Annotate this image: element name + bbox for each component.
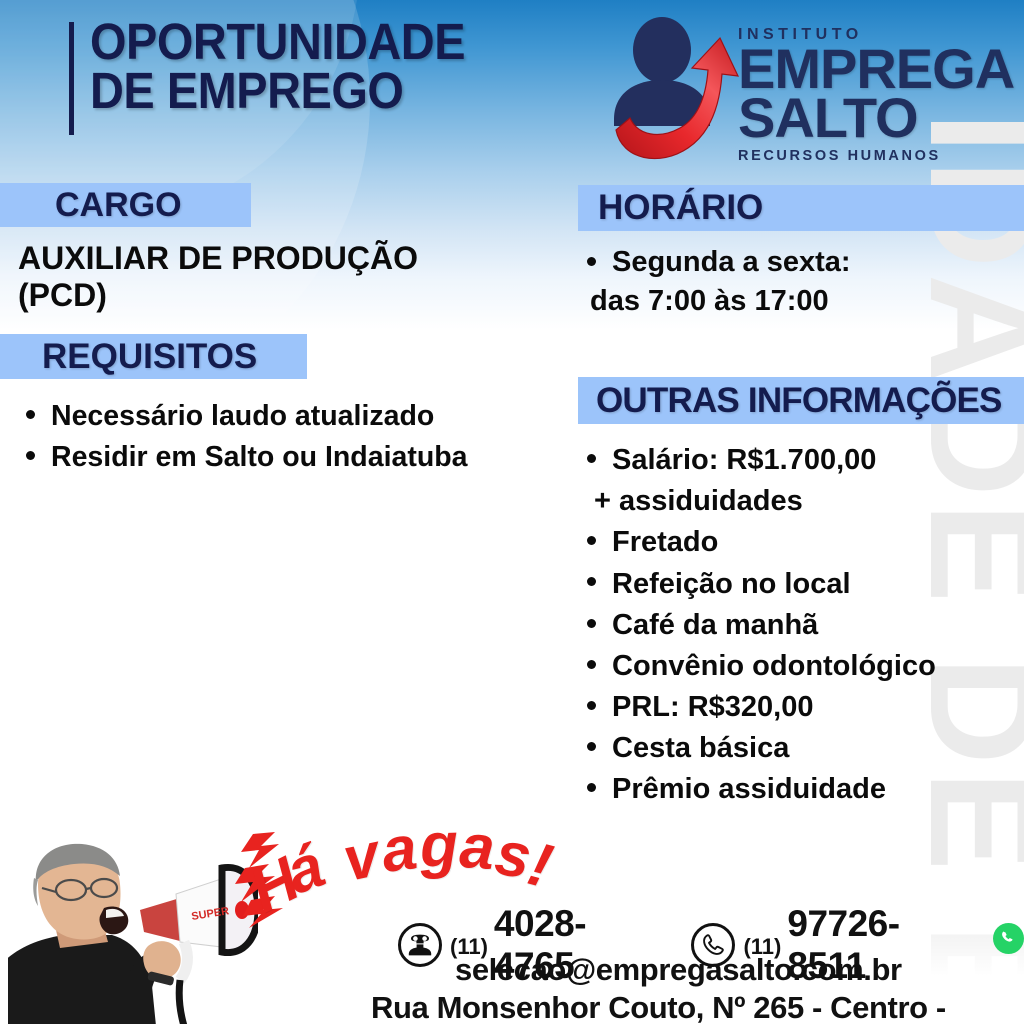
list-item: Fretado [572, 522, 1022, 563]
list-item: PRL: R$320,00 [572, 687, 1022, 728]
requisito-text: Residir em Salto ou Indaiatuba [51, 441, 468, 473]
list-item: Segunda a sexta: das 7:00 às 17:00 [572, 243, 1002, 320]
section-label-horario: HORÁRIO [578, 185, 1024, 231]
section-label-cargo: CARGO [0, 183, 251, 227]
ha-vagas-letter: v [337, 819, 385, 896]
list-item: Café da manhã [572, 605, 1022, 646]
section-label-outras-informacoes: OUTRAS INFORMAÇÕES [578, 377, 1024, 424]
list-item: Convênio odontológico [572, 646, 1022, 687]
contact-address: Rua Monsenhor Couto, Nº 265 - Centro - S… [371, 990, 1024, 1024]
section-label-outras-informacoes-text: OUTRAS INFORMAÇÕES [596, 381, 1002, 421]
list-item: Necessário laudo atualizado [11, 396, 531, 437]
cargo-value: AUXILIAR DE PRODUÇÃO (PCD) [18, 240, 418, 315]
logo-person-arrow-mark [600, 14, 760, 174]
page-title: OPORTUNIDADE DE EMPREGO [90, 18, 465, 116]
list-item: Prêmio assiduidade [572, 769, 1022, 810]
section-label-horario-text: HORÁRIO [598, 188, 763, 228]
list-item: Cesta básica [572, 728, 1022, 769]
man-with-megaphone-photo: SUPER [8, 838, 258, 1024]
ha-vagas-letter: g [419, 809, 459, 881]
whatsapp-icon[interactable] [993, 923, 1024, 954]
job-posting-poster: OPORTUNIDADE DE EMPREGO OPORTUNIDADE DE … [0, 0, 1024, 1024]
telephone-icon [398, 923, 442, 967]
horario-text-line1: Segunda a sexta: [612, 246, 851, 278]
contact-email[interactable]: selecao@empregasalto.com.br [455, 952, 902, 988]
section-label-requisitos: REQUISITOS [0, 334, 307, 379]
beneficio-text: Prêmio assiduidade [612, 773, 886, 805]
list-item: Residir em Salto ou Indaiatuba [11, 437, 531, 478]
section-label-requisitos-text: REQUISITOS [42, 337, 257, 377]
requisito-text: Necessário laudo atualizado [51, 400, 434, 432]
beneficio-text: Salário: R$1.700,00 [612, 444, 876, 476]
beneficio-text: Refeição no local [612, 568, 851, 600]
beneficio-text: Fretado [612, 526, 718, 558]
header-vertical-rule [69, 22, 74, 135]
section-label-cargo-text: CARGO [55, 186, 182, 225]
horario-text-line2: das 7:00 às 17:00 [590, 282, 1002, 321]
ha-vagas-callout: H á v a g a s ! [252, 808, 582, 913]
beneficio-text: Cesta básica [612, 732, 789, 764]
list-item: Refeição no local [572, 564, 1022, 605]
beneficio-text: Café da manhã [612, 609, 818, 641]
beneficio-text: PRL: R$320,00 [612, 691, 814, 723]
logo-name-line2: SALTO [738, 93, 1014, 142]
logo-text-block: INSTITUTO EMPREGA SALTO RECURSOS HUMANOS [738, 26, 1014, 164]
outras-informacoes-list: Salário: R$1.700,00 + assiduidades Freta… [572, 440, 1022, 811]
ha-vagas-letter: a [378, 812, 421, 887]
beneficio-text-line2: + assiduidades [594, 481, 1022, 522]
logo: INSTITUTO EMPREGA SALTO RECURSOS HUMANOS [598, 8, 1018, 176]
person-silhouette-icon [633, 17, 691, 83]
requisitos-list: Necessário laudo atualizado Residir em S… [11, 396, 531, 478]
horario-list: Segunda a sexta: das 7:00 às 17:00 [572, 243, 1002, 320]
list-item: Salário: R$1.700,00 + assiduidades [572, 440, 1022, 522]
logo-tagline: RECURSOS HUMANOS [738, 148, 1014, 164]
beneficio-text: Convênio odontológico [612, 650, 936, 682]
ha-vagas-letter: a [458, 811, 497, 884]
